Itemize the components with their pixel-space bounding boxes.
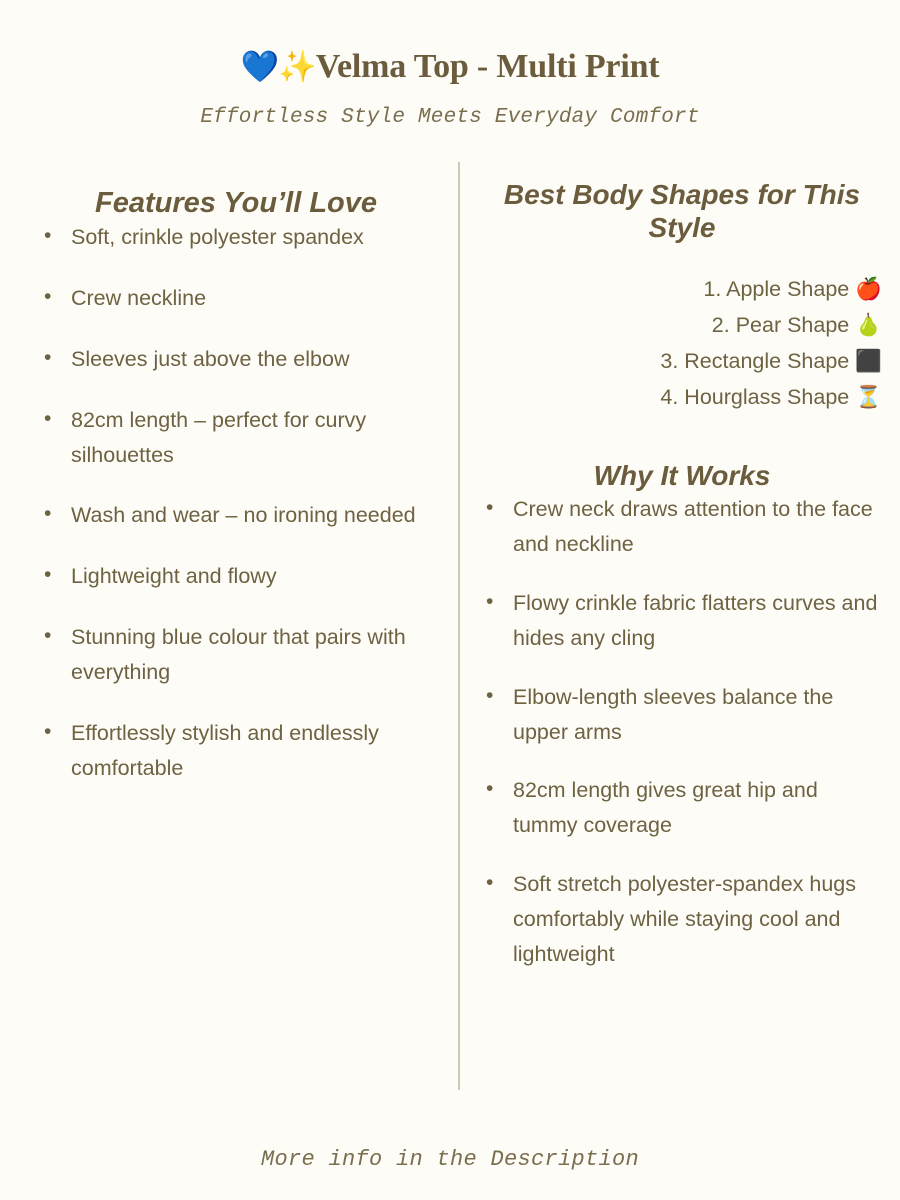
page-title: 💙✨Velma Top - Multi Print: [0, 48, 900, 86]
features-list: Soft, crinkle polyester spandexCrew neck…: [40, 220, 432, 785]
left-column: Features You’ll Love Soft, crinkle polye…: [0, 162, 458, 1092]
list-item: 1. Apple Shape 🍎: [482, 272, 882, 308]
list-item-label: Hourglass Shape: [684, 385, 855, 409]
list-item: Crew neckline: [40, 281, 432, 316]
footer-note: More info in the Description: [0, 1147, 900, 1172]
list-item: Stunning blue colour that pairs with eve…: [40, 620, 432, 690]
list-item-label: Pear Shape: [736, 313, 856, 337]
list-item: Wash and wear – no ironing needed: [40, 498, 432, 533]
list-item-number: 4.: [660, 385, 684, 409]
list-item-label: Rectangle Shape: [684, 349, 855, 373]
list-item: Soft, crinkle polyester spandex: [40, 220, 432, 255]
features-heading: Features You’ll Love: [40, 162, 432, 220]
list-item: 3. Rectangle Shape ⬛: [482, 344, 882, 380]
body-shapes-list: 1. Apple Shape 🍎2. Pear Shape 🍐3. Rectan…: [482, 272, 882, 415]
list-item-number: 2.: [712, 313, 736, 337]
infographic-page: 💙✨Velma Top - Multi Print Effortless Sty…: [0, 0, 900, 1200]
blue-heart-sparkles-icon: 💙✨: [241, 49, 316, 85]
list-item: Flowy crinkle fabric flatters curves and…: [482, 586, 882, 656]
body-shape-icon: ⬛: [855, 349, 882, 374]
list-item: 82cm length gives great hip and tummy co…: [482, 773, 882, 843]
page-subtitle: Effortless Style Meets Everyday Comfort: [0, 106, 900, 129]
list-item: Effortlessly stylish and endlessly comfo…: [40, 716, 432, 786]
list-item: Lightweight and flowy: [40, 559, 432, 594]
why-it-works-list: Crew neck draws attention to the face an…: [482, 492, 882, 971]
body-shape-icon: ⏳: [855, 385, 882, 410]
body-shapes-heading: Best Body Shapes for This Style: [482, 162, 882, 244]
body-shape-icon: 🍐: [855, 313, 882, 338]
page-title-text: Velma Top - Multi Print: [316, 48, 660, 85]
body-shape-icon: 🍎: [855, 277, 882, 302]
list-item: 2. Pear Shape 🍐: [482, 308, 882, 344]
header: 💙✨Velma Top - Multi Print Effortless Sty…: [0, 0, 900, 129]
list-item-label: Apple Shape: [726, 277, 855, 301]
list-item: Elbow-length sleeves balance the upper a…: [482, 680, 882, 750]
right-column: Best Body Shapes for This Style 1. Apple…: [460, 162, 900, 1092]
why-it-works-heading: Why It Works: [482, 415, 882, 492]
list-item: Crew neck draws attention to the face an…: [482, 492, 882, 562]
content-columns: Features You’ll Love Soft, crinkle polye…: [0, 162, 900, 1092]
list-item: 82cm length – perfect for curvy silhouet…: [40, 403, 432, 473]
list-item: Soft stretch polyester-spandex hugs comf…: [482, 867, 882, 971]
list-item: Sleeves just above the elbow: [40, 342, 432, 377]
list-item-number: 1.: [703, 277, 726, 301]
list-item: 4. Hourglass Shape ⏳: [482, 380, 882, 416]
list-item-number: 3.: [660, 349, 684, 373]
